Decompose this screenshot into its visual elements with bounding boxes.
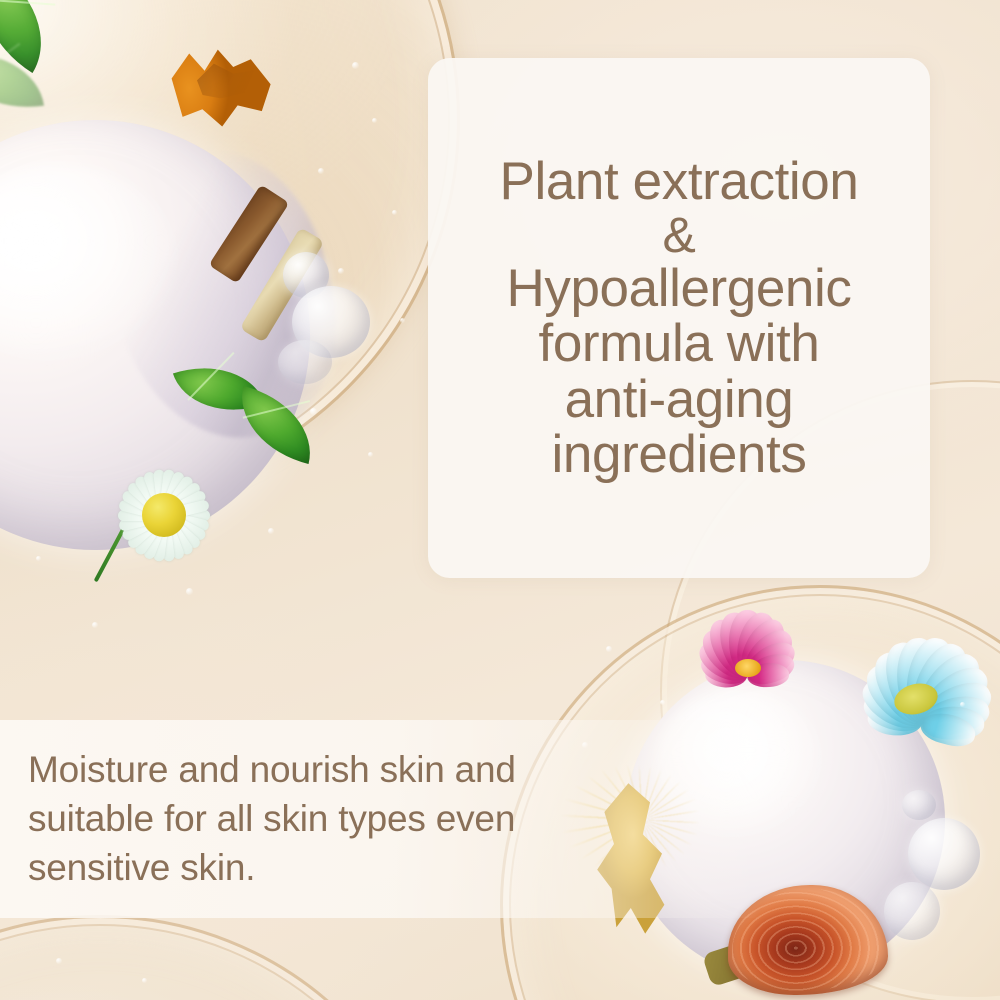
- headline-card: Plant extraction & Hypoallergenic formul…: [428, 58, 930, 578]
- caption-text: Moisture and nourish skin and suitable f…: [28, 746, 608, 892]
- headline-line-1: Plant extraction: [500, 154, 859, 209]
- dish-rim: [0, 915, 450, 1000]
- flower-core: [735, 659, 761, 677]
- water-droplet: [372, 118, 377, 123]
- headline-text: Plant extraction & Hypoallergenic formul…: [486, 154, 873, 482]
- water-droplet: [400, 318, 405, 323]
- water-bubble: [278, 340, 332, 384]
- water-droplet: [960, 702, 965, 707]
- water-droplet: [660, 700, 665, 705]
- headline-line-5: anti-aging: [500, 372, 859, 427]
- water-droplet: [392, 210, 397, 215]
- petri-dish-bottom-left: [0, 915, 450, 1000]
- caption-line-2: suitable for all skin types even: [28, 795, 608, 844]
- water-droplet: [338, 268, 344, 274]
- headline-line-3: Hypoallergenic: [500, 261, 859, 316]
- headline-line-6: ingredients: [500, 427, 859, 482]
- caption-line-1: Moisture and nourish skin and: [28, 746, 608, 795]
- promo-banner: Plant extraction & Hypoallergenic formul…: [0, 0, 1000, 1000]
- water-droplet: [368, 452, 373, 457]
- water-droplet: [310, 408, 317, 415]
- water-droplet: [268, 528, 274, 534]
- water-droplet: [142, 978, 147, 983]
- headline-ampersand: &: [500, 209, 859, 261]
- water-droplet: [606, 646, 612, 652]
- water-droplet: [352, 62, 359, 69]
- chamomile-flower-icon: [104, 455, 224, 575]
- water-droplet: [56, 958, 62, 964]
- headline-line-4: formula with: [500, 316, 859, 371]
- water-bubble: [908, 818, 980, 890]
- water-droplet: [92, 622, 98, 628]
- water-droplet: [186, 588, 193, 595]
- pink-peony-flower-icon: [680, 615, 815, 720]
- water-droplet: [318, 168, 324, 174]
- water-droplet: [36, 556, 41, 561]
- water-bubble: [884, 882, 940, 940]
- flower-core: [142, 493, 186, 537]
- water-bubble: [902, 790, 936, 820]
- caption-line-3: sensitive skin.: [28, 844, 608, 893]
